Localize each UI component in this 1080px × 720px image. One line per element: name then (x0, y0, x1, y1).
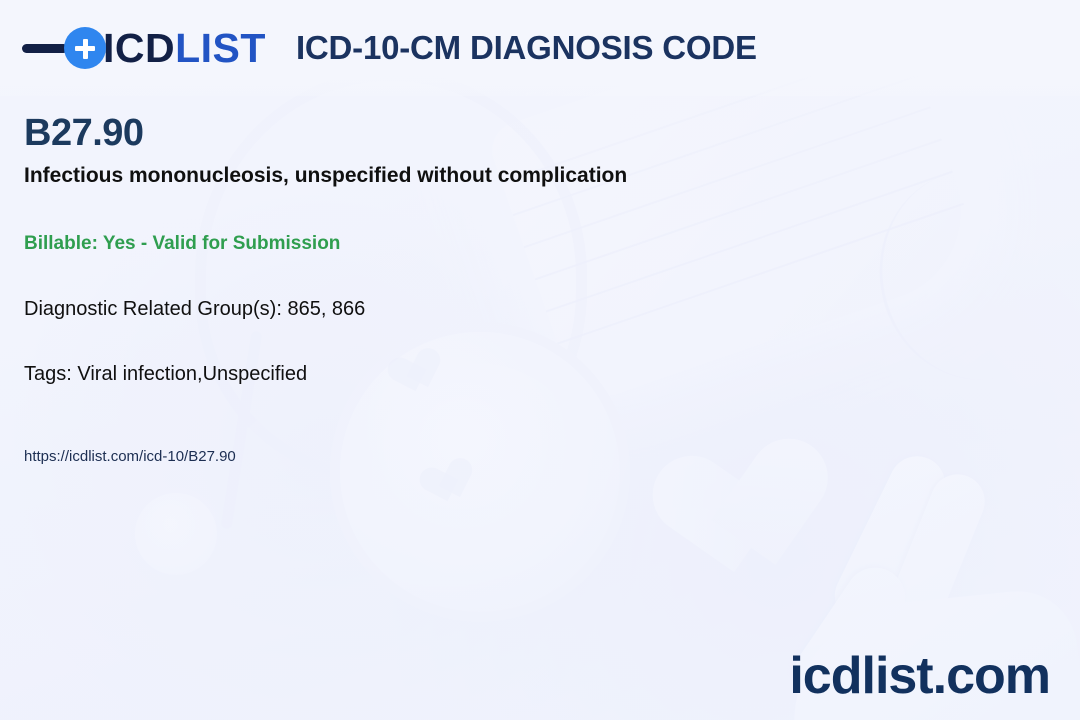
stethoscope-eartip-icon (130, 488, 222, 580)
hand-finger-icon (825, 447, 954, 633)
billable-status: Billable: Yes - Valid for Submission (24, 233, 1024, 255)
logo-wordmark: ICDLIST (103, 28, 266, 69)
hand-finger-icon (877, 466, 993, 648)
logo-text-icd: ICD (103, 25, 175, 71)
plus-circle-icon (64, 27, 106, 69)
source-url[interactable]: https://icdlist.com/icd-10/B27.90 (24, 448, 1024, 465)
dash-icon (22, 44, 68, 53)
icdlist-logo[interactable]: ICDLIST (22, 27, 266, 69)
page-header: ICDLIST ICD-10-CM DIAGNOSIS CODE (0, 0, 1080, 96)
code-details: B27.90 Infectious mononucleosis, unspeci… (24, 112, 1024, 465)
page-title: ICD-10-CM DIAGNOSIS CODE (296, 29, 757, 67)
code-tags: Tags: Viral infection,Unspecified (24, 363, 1024, 386)
icd-code-card: ICDLIST ICD-10-CM DIAGNOSIS CODE B27.90 … (0, 0, 1080, 720)
footer-brand: icdlist.com (789, 650, 1050, 702)
diagnostic-related-groups: Diagnostic Related Group(s): 865, 866 (24, 298, 1024, 321)
logo-text-list: LIST (175, 25, 266, 71)
diagnosis-description: Infectious mononucleosis, unspecified wi… (24, 162, 1024, 189)
diagnosis-code: B27.90 (24, 112, 1024, 156)
